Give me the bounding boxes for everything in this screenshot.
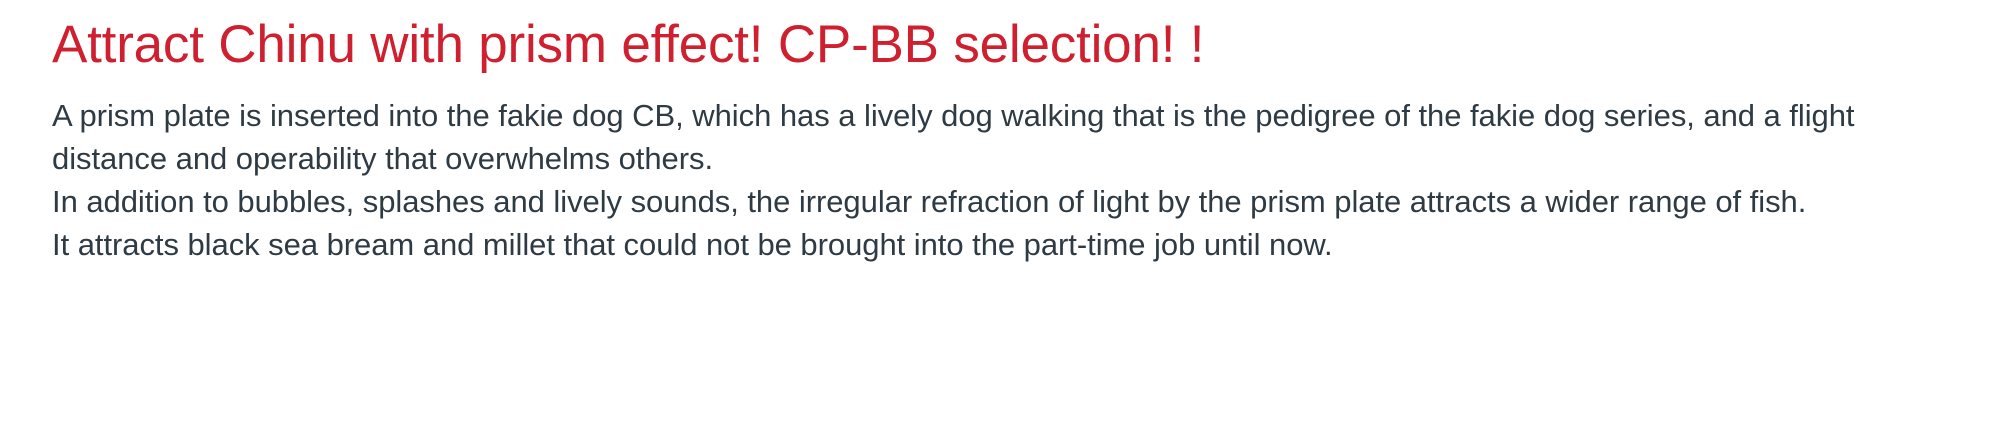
description-paragraph-1: A prism plate is inserted into the fakie… — [52, 94, 1960, 180]
page-title: Attract Chinu with prism effect! CP-BB s… — [52, 0, 1960, 77]
product-description-page: Attract Chinu with prism effect! CP-BB s… — [0, 0, 2000, 437]
description-body: A prism plate is inserted into the fakie… — [52, 77, 1960, 266]
description-paragraph-2: In addition to bubbles, splashes and liv… — [52, 180, 1960, 223]
description-paragraph-3: It attracts black sea bream and millet t… — [52, 223, 1960, 266]
